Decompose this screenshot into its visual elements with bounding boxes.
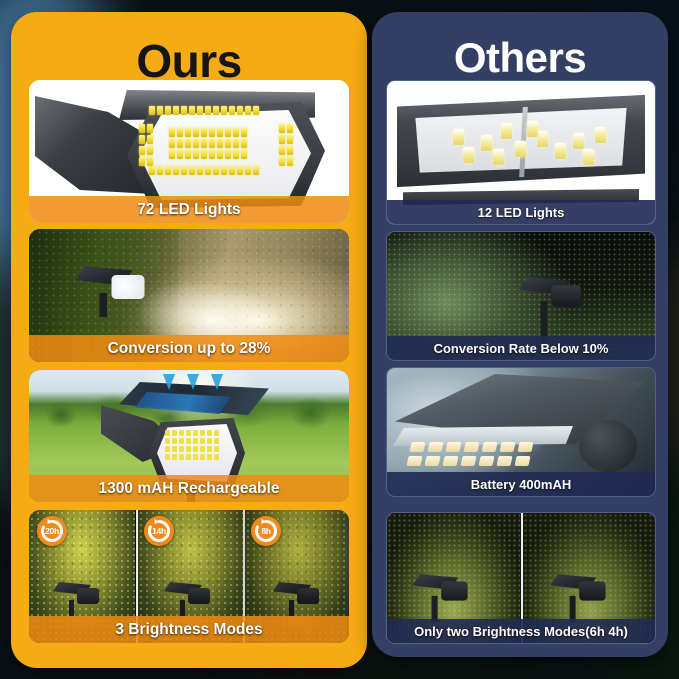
ours-panel-brightness: 20h 14h 8h 3 Brightness Modes (29, 510, 349, 643)
timer-badge-8h: 8h (251, 516, 281, 546)
others-caption-conversion: Conversion Rate Below 10% (387, 336, 655, 360)
ours-caption-conversion: Conversion up to 28% (29, 335, 349, 362)
others-caption-battery: Battery 400mAH (387, 472, 655, 496)
others-panel-brightness: Only two Brightness Modes(6h 4h) (386, 512, 656, 644)
timer-badge-14h: 14h (144, 516, 174, 546)
others-caption-led: 12 LED Lights (387, 200, 655, 224)
timer-badge-14h-label: 14h (152, 526, 166, 536)
ours-caption-brightness: 3 Brightness Modes (29, 616, 349, 643)
others-panel-conversion: Conversion Rate Below 10% (386, 231, 656, 361)
sun-ray-arrow-2 (187, 374, 199, 390)
timer-badge-8h-label: 8h (261, 526, 270, 536)
others-caption-brightness: Only two Brightness Modes(6h 4h) (387, 619, 655, 643)
sun-ray-arrow-1 (163, 374, 175, 390)
timer-badge-20h-label: 20h (45, 526, 59, 536)
timer-badge-20h: 20h (37, 516, 67, 546)
ours-panel-battery: 1300 mAH Rechargeable (29, 370, 349, 502)
ours-panel-conversion: Conversion up to 28% (29, 229, 349, 362)
ours-panel-led: 72 LED Lights (29, 80, 349, 223)
ours-caption-battery: 1300 mAH Rechargeable (29, 475, 349, 502)
infographic-canvas: Ours (0, 0, 679, 679)
ours-caption-led: 72 LED Lights (29, 196, 349, 223)
others-title: Others (372, 34, 668, 82)
others-panel-led: 12 LED Lights (386, 80, 656, 225)
sun-ray-arrow-3 (211, 374, 223, 390)
others-panel-battery: Battery 400mAH (386, 367, 656, 497)
